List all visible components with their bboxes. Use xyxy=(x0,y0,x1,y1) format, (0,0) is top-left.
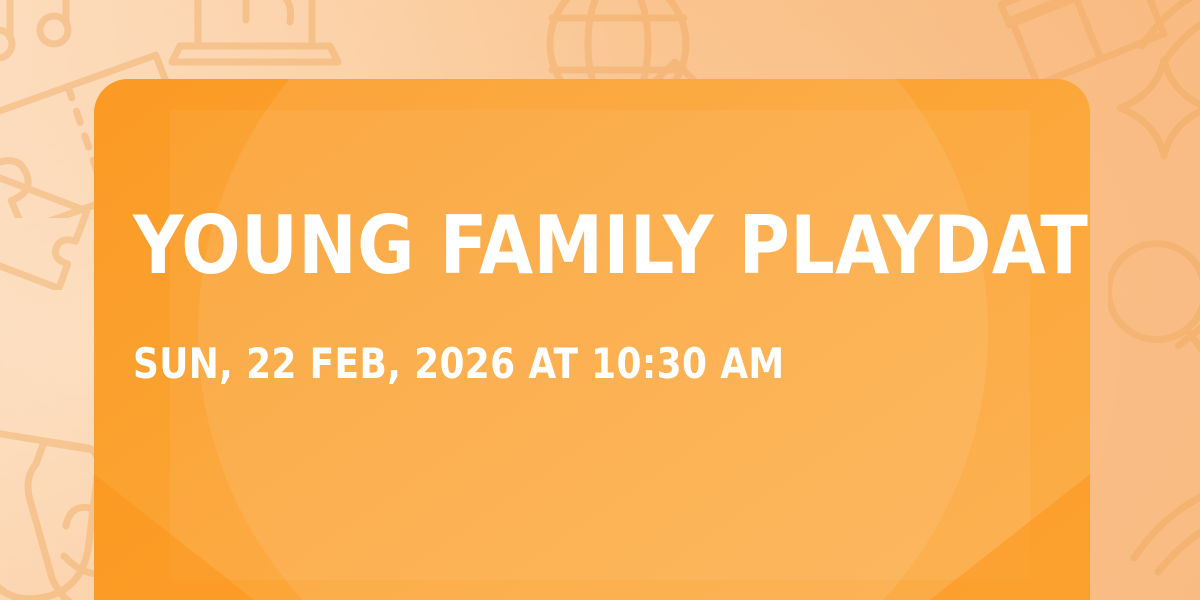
balloon-icon xyxy=(1108,214,1200,404)
event-date-time: Sun, 22 Feb, 2026 at 10:30 AM xyxy=(133,341,784,387)
music-note-icon xyxy=(0,0,94,80)
event-title: Young Family Playdate xyxy=(133,204,1090,288)
ticket-icon xyxy=(0,160,102,290)
event-banner: Young Family Playdate Sun, 22 Feb, 2026 … xyxy=(0,0,1200,600)
event-card: Young Family Playdate Sun, 22 Feb, 2026 … xyxy=(94,79,1090,600)
confetti-icon xyxy=(1118,438,1200,578)
confetti-icon xyxy=(1124,0,1200,76)
